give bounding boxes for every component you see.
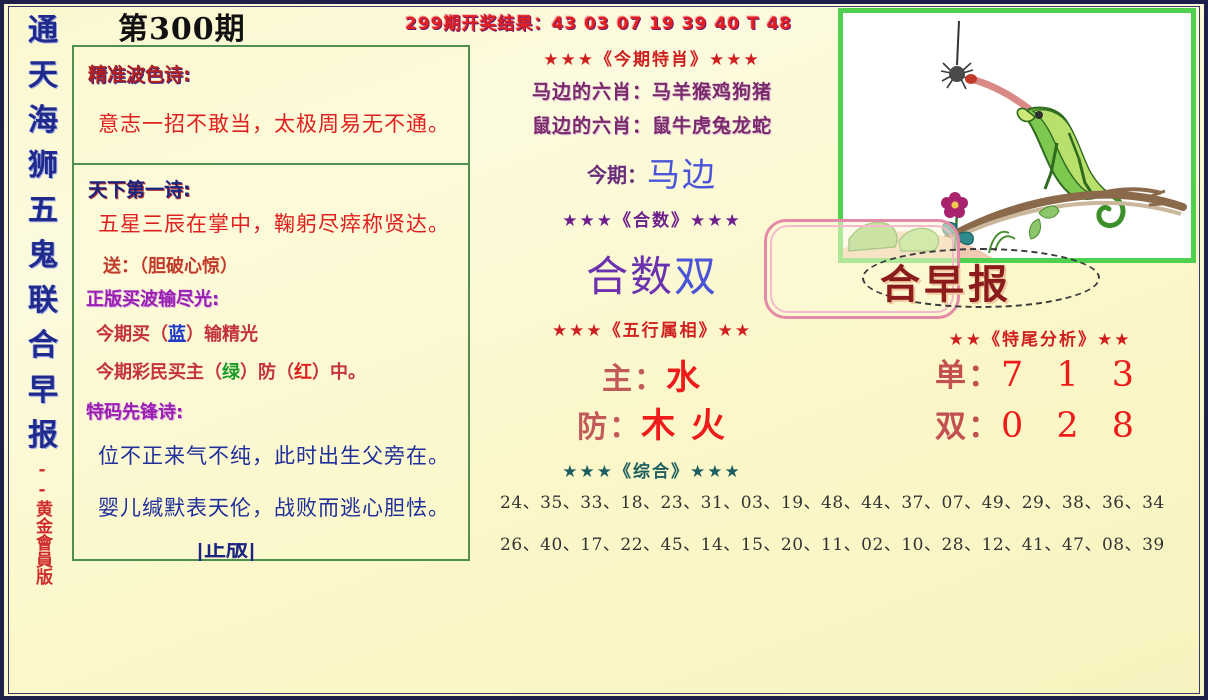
even-value: 0 2 8 (1001, 406, 1145, 446)
cut-off-text: |正版| (196, 543, 256, 561)
wuxing-zhu-row: 主：水 (478, 355, 826, 403)
left-panel-divider (72, 163, 470, 165)
buy-line-2: 今期彩民买主（绿）防（红）中。 (96, 358, 366, 384)
masthead-char: 五 (14, 188, 72, 233)
section-title-tema: 特码先锋诗: (86, 398, 183, 424)
masthead-char: 联 (14, 278, 72, 323)
vertical-masthead: 通 天 海 狮 五 鬼 联 合 早 报 --黄金會員版 (14, 8, 72, 608)
comprehensive-numbers: 24、35、33、18、23、31、03、19、48、44、37、07、49、2… (500, 482, 1190, 566)
comprehensive-row-1: 24、35、33、18、23、31、03、19、48、44、37、07、49、2… (500, 482, 1190, 524)
masthead-char: 狮 (14, 143, 72, 188)
current-period-label: 今期： (587, 163, 647, 187)
hesu-label: 合数 (586, 252, 674, 301)
section-title-bose: 精准波色诗: (88, 60, 191, 87)
heading-texiao: ★★★《今期特肖》★★★ (478, 45, 826, 70)
wuxing-zhu-label: 主： (602, 362, 666, 397)
odd-value: 7 1 3 (1001, 355, 1145, 395)
masthead-char: 天 (14, 53, 72, 98)
section-title-tianxia: 天下第一诗: (88, 175, 191, 202)
masthead-subtitle: --黄金會員版 (32, 460, 52, 585)
odd-label: 单： (935, 358, 1001, 394)
even-label: 双： (935, 409, 1001, 445)
heading-zonghe: ★★★《综合》★★★ (478, 457, 826, 482)
even-row: 双：0 2 8 (880, 401, 1200, 452)
masthead-char: 早 (14, 368, 72, 413)
buy2-mid: ）防（ (240, 362, 294, 383)
row-ma-six: 马边的六肖：马羊猴鸡狗猪 (478, 77, 826, 104)
gift-line: 送：（胆破心惊） (103, 252, 238, 278)
masthead-char: 鬼 (14, 233, 72, 278)
buy2-green: 绿 (222, 362, 240, 383)
buy2-post: ）中。 (312, 362, 366, 383)
masthead-char: 报 (14, 413, 72, 458)
brand-overlay-text: 合早报 (880, 252, 1012, 310)
buy2-red: 红 (294, 362, 312, 383)
masthead-char: 通 (14, 8, 72, 53)
heading-wuxing: ★★★《五行属相》★★ (478, 316, 826, 341)
wuxing-fang-label: 防： (577, 410, 641, 445)
hesu-value: 双 (674, 252, 718, 301)
draw-result: 299期开奖结果：43 03 07 19 39 40 T 48 (405, 9, 792, 34)
wuxing-block: 主：水 防：木 火 (478, 355, 826, 451)
current-period-row: 今期：马边 (478, 148, 826, 196)
row-shu-six: 鼠边的六肖：鼠牛虎兔龙蛇 (478, 111, 826, 138)
wuxing-zhu-value: 水 (666, 358, 702, 398)
buy1-pre: 今期买（ (96, 324, 168, 345)
issue-number: 第300期 (118, 4, 246, 48)
current-period-value: 马边 (647, 155, 717, 194)
odd-row: 单：7 1 3 (880, 350, 1200, 401)
wuxing-fang-value: 木 火 (641, 406, 727, 446)
poem-tema-2: 婴儿缄默表天伦，战败而逃心胆怯。 (98, 492, 450, 522)
buy2-pre: 今期彩民买主（ (96, 362, 222, 383)
buy-line-1: 今期买（蓝）输精光 (96, 320, 258, 346)
poem-bose: 意志一招不敢当，太极周易无不通。 (98, 108, 450, 138)
buy1-post: ）输精光 (186, 324, 258, 345)
gift-value: （胆破心惊） (139, 256, 238, 277)
poem-tianxia: 五星三辰在掌中，鞠躬尽瘁称贤达。 (98, 208, 450, 238)
poem-tema-1: 位不正来气不纯，此时出生父旁在。 (98, 440, 450, 470)
masthead-char: 海 (14, 98, 72, 143)
newspaper-page: 通 天 海 狮 五 鬼 联 合 早 报 --黄金會員版 第300期 299期开奖… (0, 0, 1208, 700)
right-analysis-column: ★★《特尾分析》★★ 单：7 1 3 双：0 2 8 (880, 325, 1200, 452)
wuxing-fang-row: 防：木 火 (478, 403, 826, 451)
section-title-zhengban: 正版买波输尽光: (86, 285, 219, 311)
comprehensive-row-2: 26、40、17、22、45、14、15、20、11、02、10、28、12、4… (500, 524, 1190, 566)
buy1-color: 蓝 (168, 324, 186, 345)
heading-tewei: ★★《特尾分析》★★ (880, 325, 1200, 350)
masthead-char: 合 (14, 323, 72, 368)
gift-label: 送： (103, 256, 139, 277)
